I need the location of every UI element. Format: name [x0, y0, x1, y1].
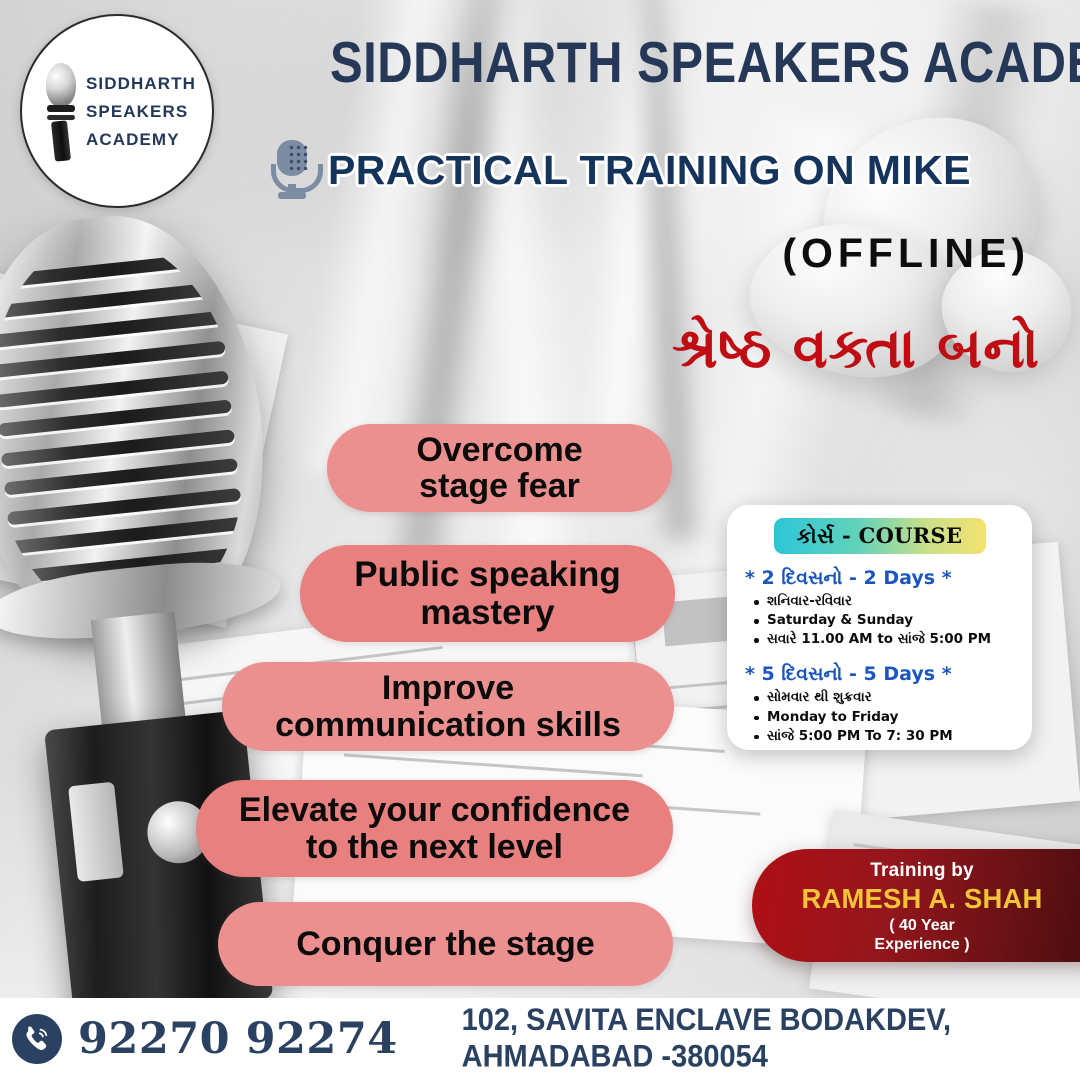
logo-text: SIDDHARTH SPEAKERS ACADEMY — [86, 75, 196, 148]
feature-pill: Conquer the stage — [218, 902, 673, 986]
feature-pill: Elevate your confidenceto the next level — [196, 780, 673, 877]
trainer-card: Training by RAMESH A. SHAH ( 40 YearExpe… — [752, 849, 1080, 962]
course-item: સોમવાર થી શુક્રવાર — [767, 688, 1032, 707]
academy-title: SIDDHARTH SPEAKERS ACADEMY — [330, 30, 1060, 96]
trainer-prefix: Training by — [752, 860, 1080, 882]
course-item: શનિવાર-રવિવાર — [767, 592, 1032, 611]
microphone-icon — [270, 140, 314, 200]
course-item: Saturday & Sunday — [767, 611, 1032, 630]
phone-number: 92270 92274 — [78, 1014, 398, 1064]
feature-pill: Public speakingmastery — [300, 545, 675, 642]
course-section-2-days: * 2 દિવસનો - 2 Days * શનિવાર-રવિવાર Satu… — [745, 567, 1032, 649]
course-section-items: સોમવાર થી શુક્રવાર Monday to Friday સાંજ… — [745, 688, 1032, 745]
course-item: સાંજે 5:00 PM To 7: 30 PM — [767, 727, 1032, 746]
trainer-experience: ( 40 YearExperience ) — [752, 917, 1080, 955]
poster: SIDDHARTH SPEAKERS ACADEMY SIDDHARTH SPE… — [0, 0, 1080, 1080]
practical-training-heading: PRACTICAL TRAINING ON MIKE — [270, 140, 1070, 200]
course-section-heading: * 5 દિવસનો - 5 Days * — [745, 663, 1032, 685]
phone-icon — [12, 1014, 62, 1064]
footer: 92270 92274 102, SAVITA ENCLAVE BODAKDEV… — [0, 998, 1080, 1080]
course-card: કોર્સ - COURSE * 2 દિવસનો - 2 Days * શનિ… — [727, 505, 1032, 750]
phone-contact[interactable]: 92270 92274 — [12, 1014, 398, 1064]
course-section-5-days: * 5 દિવસનો - 5 Days * સોમવાર થી શુક્રવાર… — [745, 663, 1032, 745]
trainer-name: RAMESH A. SHAH — [755, 883, 1080, 915]
address: 102, SAVITA ENCLAVE BODAKDEV,AHMADABAD -… — [462, 1003, 951, 1076]
feature-pill: Improvecommunication skills — [222, 662, 674, 751]
course-item: Monday to Friday — [767, 708, 1032, 727]
course-section-items: શનિવાર-રવિવાર Saturday & Sunday સવારે 11… — [745, 592, 1032, 649]
feature-pill: Overcomestage fear — [327, 424, 672, 512]
logo-line-2: SPEAKERS — [86, 103, 196, 120]
offline-label: (OFFLINE) — [782, 230, 1030, 277]
logo-microphone-icon — [42, 63, 80, 159]
course-item: સવારે 11.00 AM to સાંજે 5:00 PM — [767, 630, 1032, 649]
logo-line-1: SIDDHARTH — [86, 75, 196, 92]
practical-title-text: PRACTICAL TRAINING ON MIKE — [328, 147, 971, 194]
gujarati-tagline: શ્રેષ્ઠ વક્તા બનો — [672, 316, 1040, 382]
course-badge: કોર્સ - COURSE — [774, 518, 986, 554]
logo: SIDDHARTH SPEAKERS ACADEMY — [20, 14, 214, 208]
course-section-heading: * 2 દિવસનો - 2 Days * — [745, 567, 1032, 589]
logo-line-3: ACADEMY — [86, 131, 196, 148]
